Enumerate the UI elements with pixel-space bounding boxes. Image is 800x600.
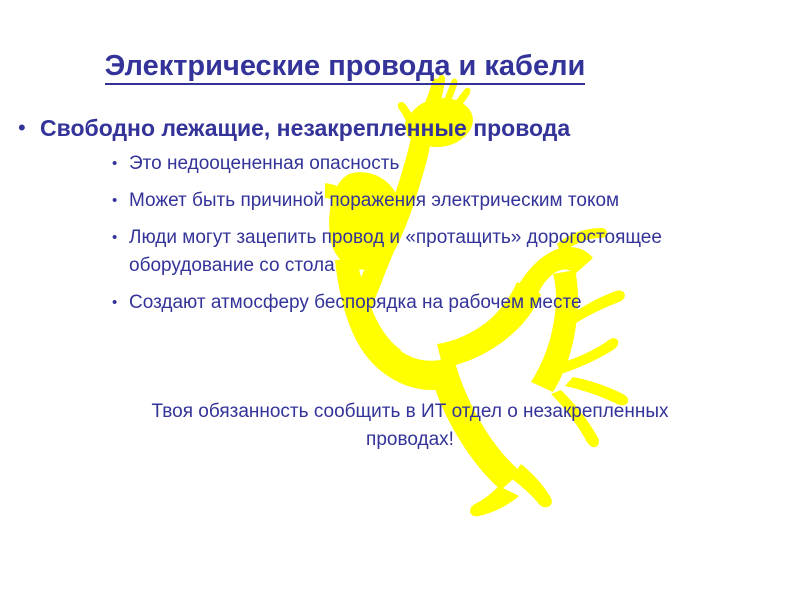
- list-item-text: Люди могут зацепить провод и «протащить»…: [129, 224, 737, 280]
- bullet-marker-icon: •: [112, 187, 129, 215]
- page-title-text: Электрические провода и кабели: [105, 50, 586, 85]
- page-title: Электрические провода и кабели: [0, 50, 690, 83]
- list-item-text: Это недооцененная опасность: [129, 150, 399, 178]
- bullet-level2-list: • Это недооцененная опасность • Может бы…: [112, 150, 752, 326]
- bullet-marker-icon: •: [18, 113, 40, 143]
- bullet-level1: • Свободно лежащие, незакрепленные прово…: [18, 113, 778, 143]
- bullet-marker-icon: •: [112, 224, 129, 252]
- list-item: • Может быть причиной поражения электрич…: [112, 187, 752, 215]
- list-item: • Люди могут зацепить провод и «протащит…: [112, 224, 752, 280]
- closing-statement: Твоя обязанность сообщить в ИТ отдел о н…: [150, 398, 670, 454]
- list-item-text: Может быть причиной поражения электричес…: [129, 187, 619, 215]
- list-item: • Создают атмосферу беспорядка на рабоче…: [112, 289, 752, 317]
- bullet-marker-icon: •: [112, 150, 129, 178]
- presentation-slide: Электрические провода и кабели • Свободн…: [0, 0, 800, 600]
- slide-text-layer: Электрические провода и кабели • Свободн…: [0, 0, 800, 600]
- list-item: • Это недооцененная опасность: [112, 150, 752, 178]
- bullet-marker-icon: •: [112, 289, 129, 317]
- list-item-text: Создают атмосферу беспорядка на рабочем …: [129, 289, 582, 317]
- bullet-level1-text: Свободно лежащие, незакрепленные провода: [40, 113, 570, 143]
